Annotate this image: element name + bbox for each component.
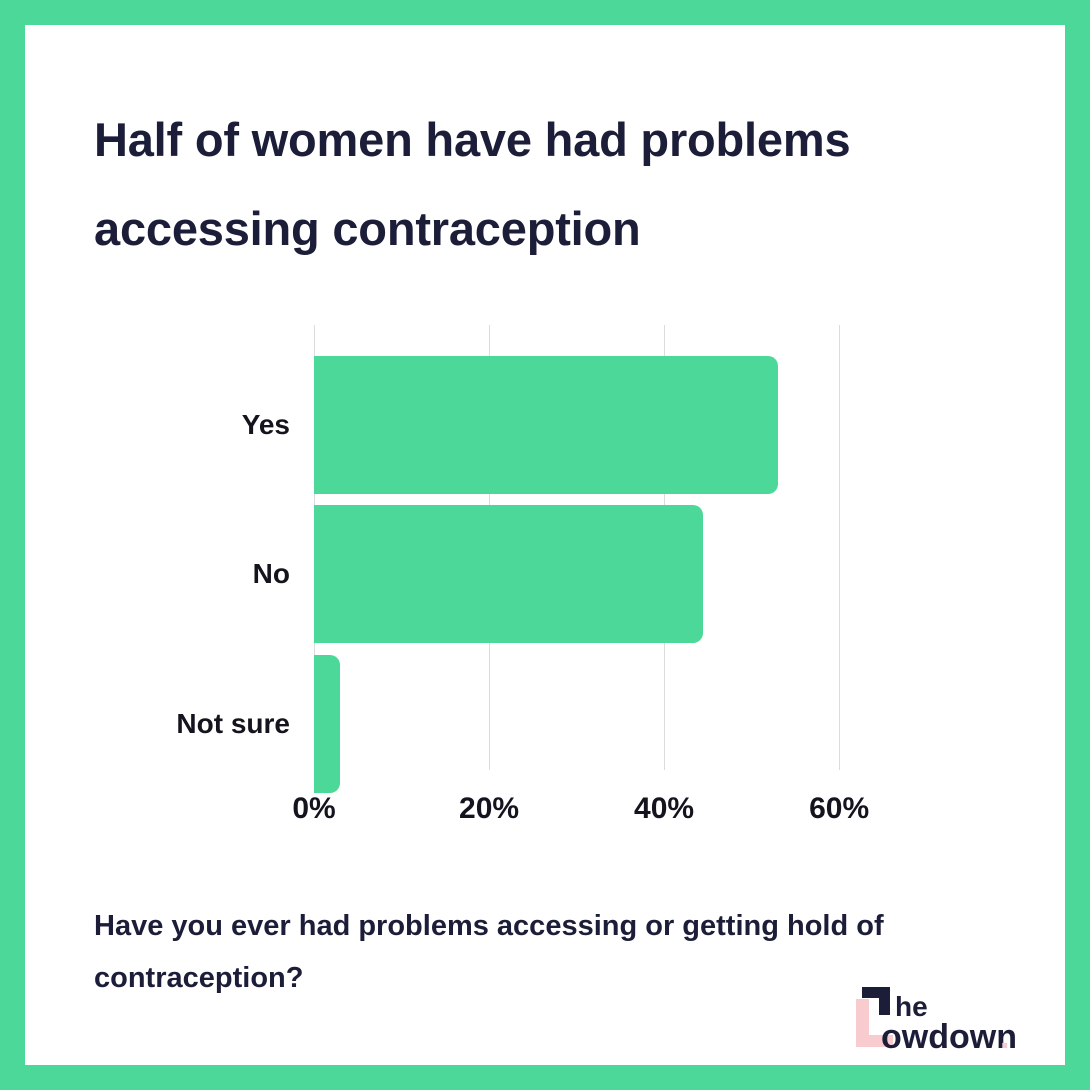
xtick-label-20: 20% (459, 792, 519, 826)
infographic-card: Half of women have had problems accessin… (0, 0, 1090, 1090)
chart-plot-area: Yes No Not sure 0% 20% 40% 60% (314, 325, 840, 770)
logo-text-dot: . (1000, 1018, 1009, 1053)
logo-artwork: he owdown . (848, 981, 1028, 1053)
infographic-canvas: Half of women have had problems accessin… (25, 25, 1065, 1065)
bar-row-not-sure: Not sure (314, 655, 840, 793)
xtick-label-40: 40% (634, 792, 694, 826)
logo-text-owdown: owdown (881, 1018, 1017, 1053)
xtick-label-0: 0% (292, 792, 335, 826)
bar-no (314, 505, 703, 643)
category-label-yes: Yes (242, 409, 290, 441)
the-lowdown-logo: he owdown . (848, 981, 1028, 1053)
category-label-not-sure: Not sure (176, 708, 290, 740)
bar-row-no: No (314, 505, 840, 643)
category-label-no: No (253, 558, 290, 590)
xtick-label-60: 60% (809, 792, 869, 826)
bar-not-sure (314, 655, 340, 793)
bar-row-yes: Yes (314, 356, 840, 494)
bar-yes (314, 356, 778, 494)
